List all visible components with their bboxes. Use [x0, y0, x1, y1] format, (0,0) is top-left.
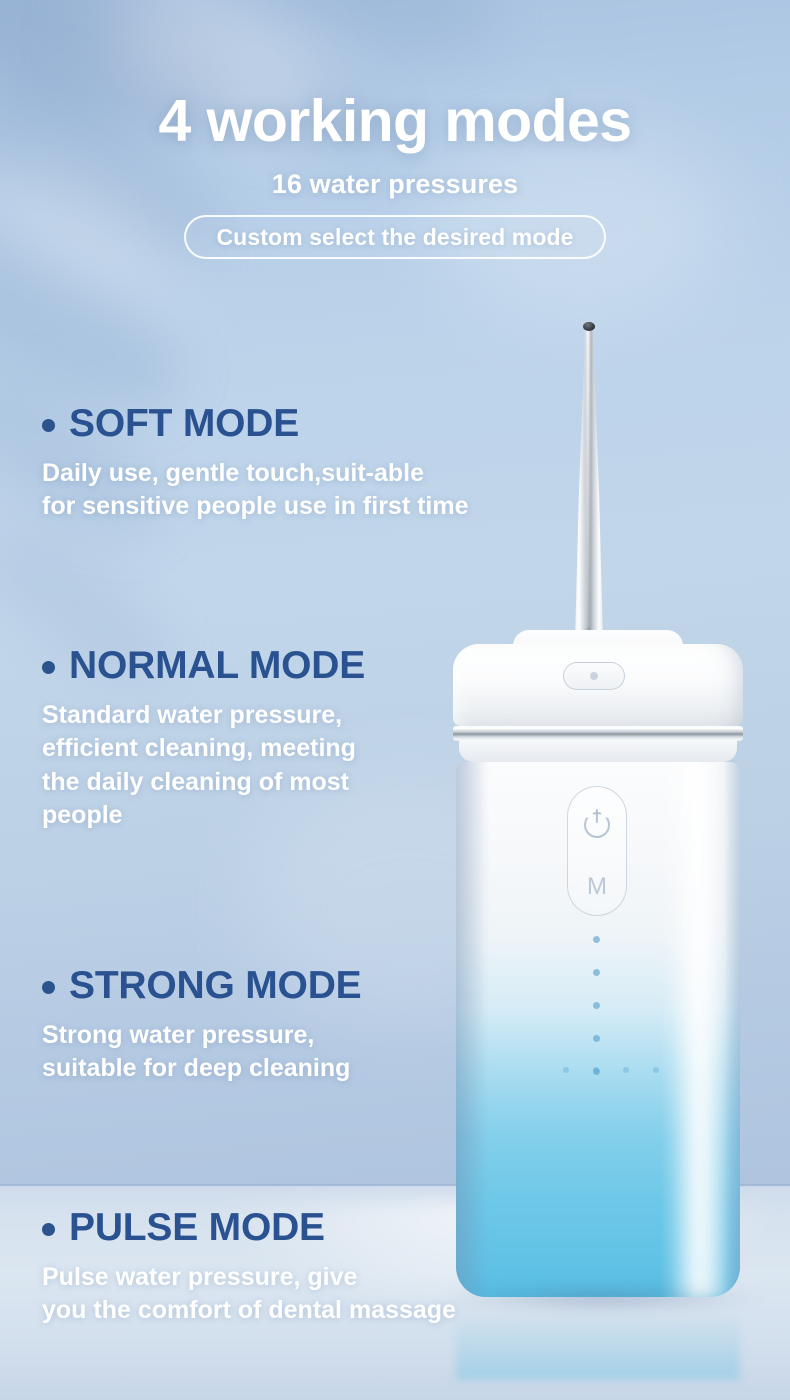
- power-icon[interactable]: [584, 809, 610, 835]
- nozzle-highlight: [586, 328, 590, 628]
- mode-description-normal: Standard water pressure, efficient clean…: [42, 699, 365, 832]
- mode-button[interactable]: M: [568, 875, 626, 899]
- nozzle-icon: [568, 322, 610, 652]
- touch-control-panel[interactable]: M: [567, 786, 627, 916]
- body-right-highlight: [674, 762, 726, 1297]
- bullet-icon: [42, 419, 55, 432]
- product-feature-image: 4 working modes 16 water pressures Custo…: [0, 0, 790, 1400]
- release-button-dot: [590, 672, 598, 680]
- mode-block-soft: SOFT MODE Daily use, gentle touch,suit-a…: [42, 404, 469, 524]
- mode-block-normal: NORMAL MODE Standard water pressure, eff…: [42, 646, 365, 832]
- mode-description-soft: Daily use, gentle touch,suit-able for se…: [42, 457, 469, 524]
- led-indicator-column: [593, 936, 603, 1101]
- led-indicator: [593, 936, 600, 943]
- led-indicator-small: [593, 1067, 599, 1073]
- led-indicator-small: [653, 1067, 659, 1073]
- mode-title-normal: NORMAL MODE: [69, 646, 365, 685]
- page-title: 4 working modes: [0, 92, 790, 151]
- nozzle-tip: [583, 322, 595, 331]
- mode-description-strong: Strong water pressure, suitable for deep…: [42, 1019, 361, 1086]
- led-indicator: [593, 1002, 600, 1009]
- mode-block-pulse: PULSE MODE Pulse water pressure, give yo…: [42, 1208, 456, 1328]
- mode-title-strong: STRONG MODE: [69, 966, 361, 1005]
- mode-title-soft: SOFT MODE: [69, 404, 299, 443]
- led-indicator-small: [623, 1067, 629, 1073]
- body-right-shade: [724, 762, 740, 1297]
- release-button-icon[interactable]: [563, 662, 625, 690]
- chrome-band: [453, 726, 743, 741]
- body-left-shade: [456, 762, 490, 1297]
- leaf-shadow-icon: [191, 0, 509, 80]
- device-lid: [453, 644, 743, 726]
- mode-description-pulse: Pulse water pressure, give you the comfo…: [42, 1261, 456, 1328]
- bullet-icon: [42, 661, 55, 674]
- mode-block-strong: STRONG MODE Strong water pressure, suita…: [42, 966, 361, 1086]
- header: 4 working modes 16 water pressures Custo…: [0, 92, 790, 259]
- led-indicator-small: [563, 1067, 569, 1073]
- led-indicator: [593, 1035, 600, 1042]
- page-subtitle: 16 water pressures: [0, 171, 790, 198]
- power-icon-stem: [596, 809, 598, 823]
- mode-title-pulse: PULSE MODE: [69, 1208, 325, 1247]
- bullet-icon: [42, 981, 55, 994]
- lid-skirt: [459, 740, 737, 762]
- bullet-icon: [42, 1223, 55, 1236]
- led-indicator-row: [563, 1067, 659, 1073]
- custom-select-mode-badge: Custom select the desired mode: [184, 215, 605, 259]
- water-flosser-product: M: [453, 322, 743, 1297]
- led-indicator: [593, 969, 600, 976]
- device-reflection: [456, 1294, 740, 1380]
